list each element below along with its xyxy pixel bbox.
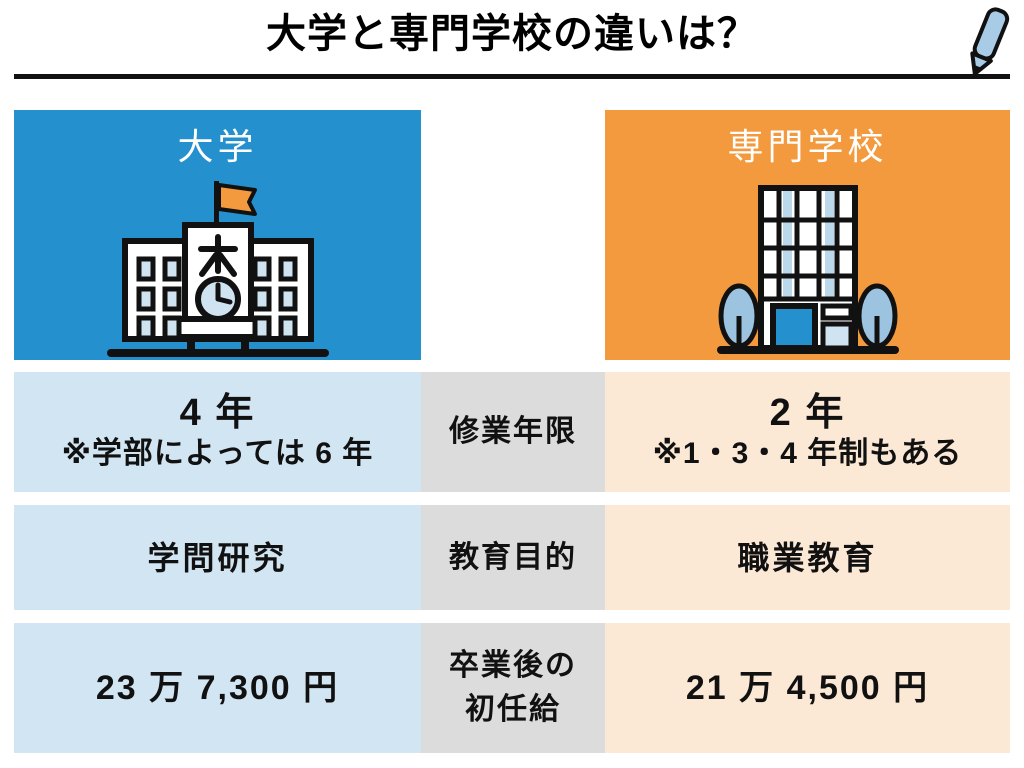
- row-3-vocational-value: 21 万 4,500 円: [686, 667, 929, 709]
- pencil-icon: [956, 2, 1018, 80]
- title-divider: [14, 74, 1010, 79]
- vocational-art: [713, 172, 903, 360]
- row-1-vocational-value: 2 年: [770, 391, 846, 435]
- row-3-university-cell: 23 万 7,300 円: [14, 623, 421, 753]
- row-2-university-cell: 学問研究: [14, 505, 421, 610]
- row-1-vocational-note: ※1・3・4 年制もある: [653, 435, 963, 473]
- column-header-university: 大学: [14, 110, 421, 360]
- column-header-vocational: 専門学校: [605, 110, 1010, 360]
- row-1-university-note: ※学部によっては 6 年: [62, 435, 374, 473]
- university-art: [103, 172, 333, 360]
- row-3-university-value: 23 万 7,300 円: [96, 667, 339, 709]
- row-3-label-line1: 卒業後の: [449, 644, 577, 688]
- row-3-label: 卒業後の 初任給: [421, 623, 605, 753]
- column-headers: 大学: [0, 110, 1024, 360]
- row-1-university-cell: 4 年 ※学部によっては 6 年: [14, 372, 421, 492]
- row-1-university-value: 4 年: [180, 391, 256, 435]
- page-title: 大学と専門学校の違いは？: [0, 6, 1024, 62]
- row-3-label-line2: 初任給: [465, 688, 561, 732]
- row-2-label: 教育目的: [421, 505, 605, 610]
- vocational-building-icon: [713, 180, 903, 360]
- row-1-label: 修業年限: [421, 372, 605, 492]
- row-2-label-text: 教育目的: [449, 536, 577, 580]
- table-row: 学問研究 教育目的 職業教育: [0, 505, 1024, 610]
- row-1-vocational-cell: 2 年 ※1・3・4 年制もある: [605, 372, 1010, 492]
- row-1-label-text: 修業年限: [449, 410, 577, 454]
- page-header: 大学と専門学校の違いは？: [0, 0, 1024, 92]
- table-row: 4 年 ※学部によっては 6 年 修業年限 2 年 ※1・3・4 年制もある: [0, 372, 1024, 492]
- university-building-icon: [103, 175, 333, 360]
- row-2-vocational-value: 職業教育: [737, 538, 877, 578]
- column-label-university: 大学: [177, 124, 257, 170]
- row-2-vocational-cell: 職業教育: [605, 505, 1010, 610]
- comparison-table: 4 年 ※学部によっては 6 年 修業年限 2 年 ※1・3・4 年制もある 学…: [0, 372, 1024, 766]
- table-row: 23 万 7,300 円 卒業後の 初任給 21 万 4,500 円: [0, 623, 1024, 753]
- row-3-vocational-cell: 21 万 4,500 円: [605, 623, 1010, 753]
- column-label-vocational: 専門学校: [727, 124, 887, 170]
- row-2-university-value: 学問研究: [147, 538, 287, 578]
